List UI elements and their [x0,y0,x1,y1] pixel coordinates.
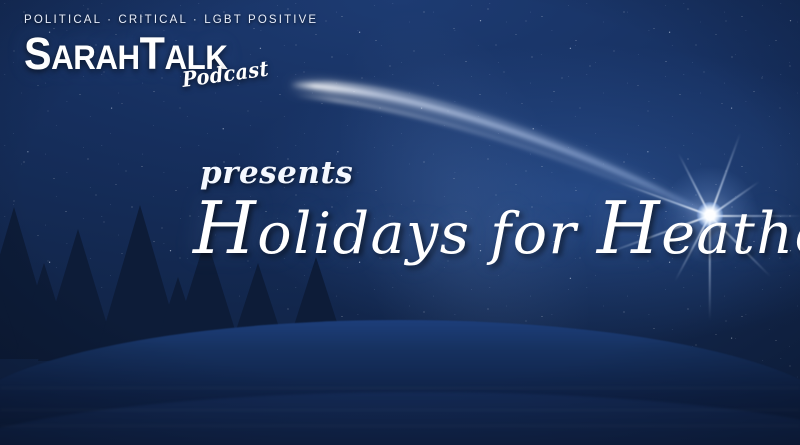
snow-drift-line [0,425,800,427]
logo-t: T [140,28,165,79]
brand-logo: SARAHTALK Podcast [24,32,295,75]
title-initial-h2: H [597,186,661,270]
episode-title: Holidays for Heathens [193,192,800,264]
title-end: eathens [661,201,800,267]
snow-drift-line [0,409,800,411]
title-mid: olidays for [257,201,597,267]
snow-drift-line [0,387,800,389]
logo-arah: ARAH [51,39,140,77]
title-initial-h1: H [193,186,257,270]
episode-cover-art: POLITICAL · CRITICAL · LGBT POSITIVE SAR… [0,0,800,445]
brand-tagline: POLITICAL · CRITICAL · LGBT POSITIVE [24,14,318,26]
brand-lockup: POLITICAL · CRITICAL · LGBT POSITIVE SAR… [24,14,318,75]
logo-s: S [24,28,51,79]
